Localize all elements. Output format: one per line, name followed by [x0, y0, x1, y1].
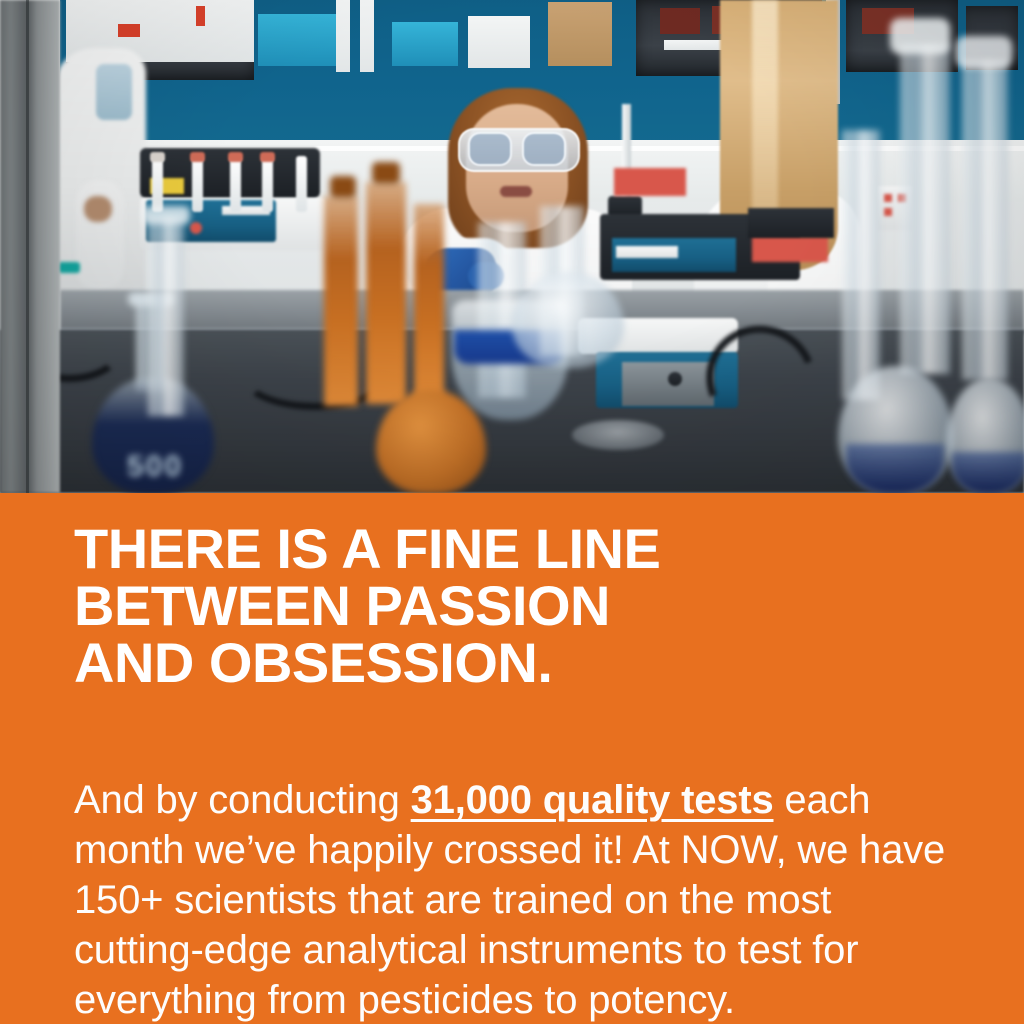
body-paragraph: And by conducting 31,000 quality tests e…: [74, 775, 952, 1024]
headline-line-3: AND OBSESSION.: [74, 634, 974, 691]
quality-tests-emphasis: 31,000 quality tests: [411, 778, 774, 822]
orange-text-panel: THERE IS A FINE LINE BETWEEN PASSION AND…: [0, 493, 1024, 1024]
body-text-before: And by conducting: [74, 778, 411, 822]
headline-line-2: BETWEEN PASSION: [74, 577, 974, 634]
headline-line-1: THERE IS A FINE LINE: [74, 520, 974, 577]
marketing-poster: 500 THERE IS A FINE LINE BETWEEN PASSION…: [0, 0, 1024, 1024]
photo-vignette: [0, 0, 1024, 493]
page-title: THERE IS A FINE LINE BETWEEN PASSION AND…: [74, 520, 974, 691]
lab-photo: 500: [0, 0, 1024, 493]
